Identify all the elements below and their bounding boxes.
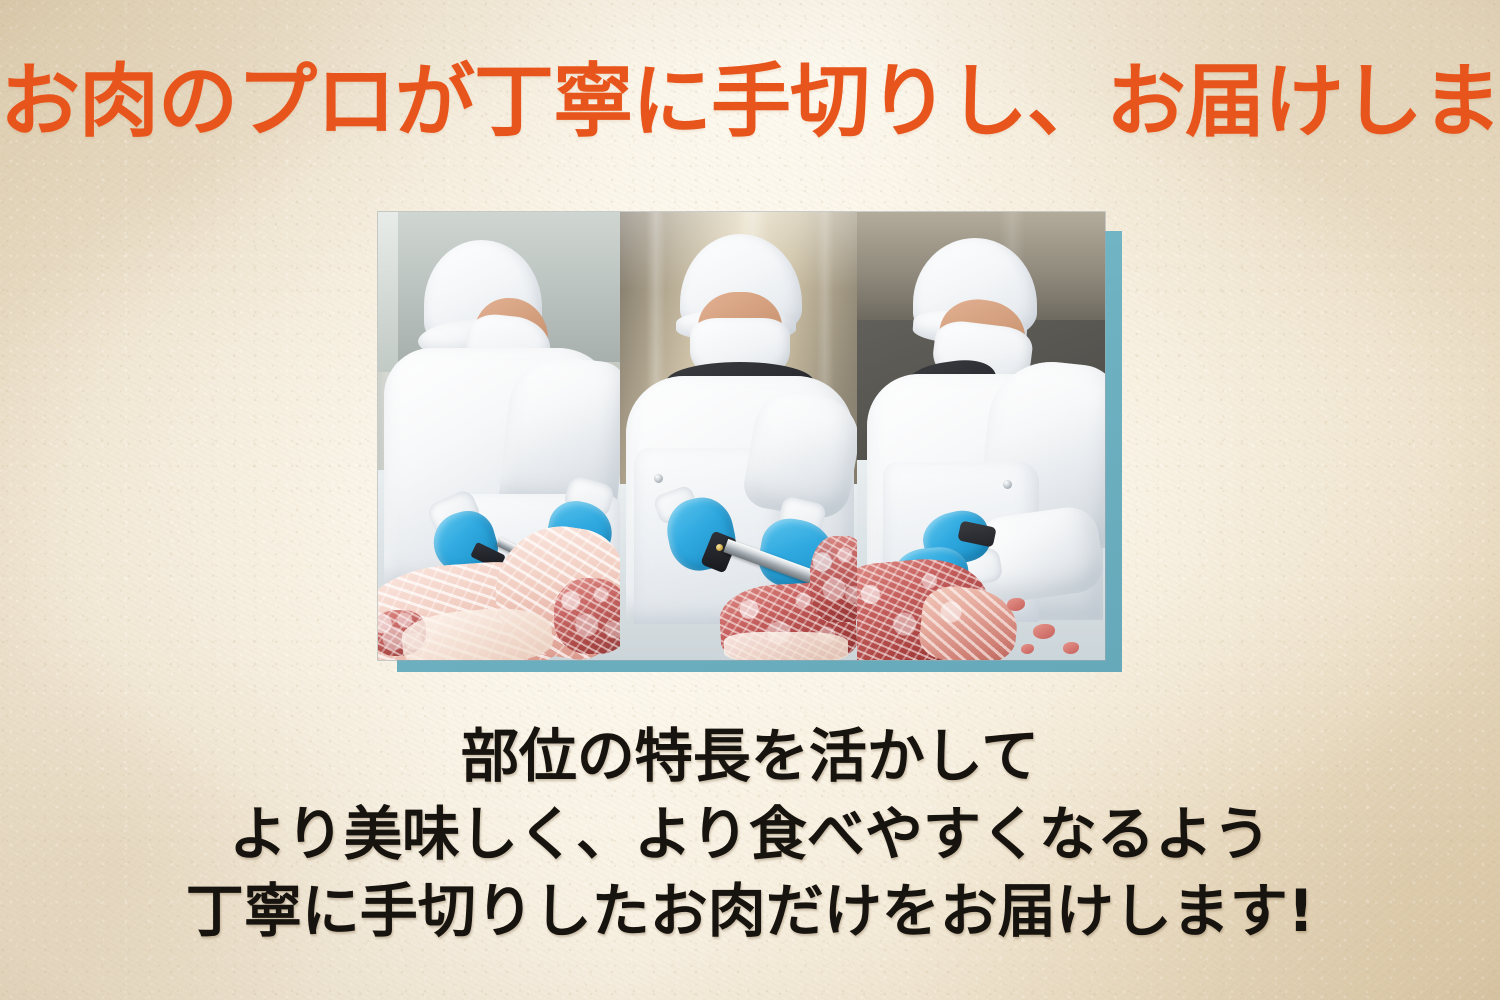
apron-stud bbox=[654, 474, 663, 483]
apron-stud bbox=[1003, 480, 1012, 489]
knife-rivet bbox=[716, 544, 723, 551]
fat-layer bbox=[724, 632, 848, 660]
background-pillar bbox=[378, 212, 398, 372]
subcopy-block: 部位の特長を活かして より美味しく、より食べやすくなるよう 丁寧に手切りしたお肉… bbox=[0, 718, 1500, 951]
panel-trimming bbox=[378, 212, 620, 660]
marbled-beef-back bbox=[810, 536, 857, 622]
headline-text: お肉のプロが丁寧に手切りし、お届けします! bbox=[0, 62, 1500, 142]
meat-red-section bbox=[554, 578, 620, 654]
subcopy-line-3: 丁寧に手切りしたお肉だけをお届けします! bbox=[0, 873, 1500, 951]
poster-canvas: お肉のプロが丁寧に手切りし、お届けします! bbox=[0, 0, 1500, 1000]
panel-boning bbox=[857, 212, 1105, 660]
subcopy-line-1: 部位の特長を活かして bbox=[0, 718, 1500, 796]
subcopy-line-2: より美味しく、より食べやすくなるよう bbox=[0, 796, 1500, 874]
photo-strip bbox=[378, 212, 1105, 660]
panel-slicing bbox=[620, 212, 857, 660]
